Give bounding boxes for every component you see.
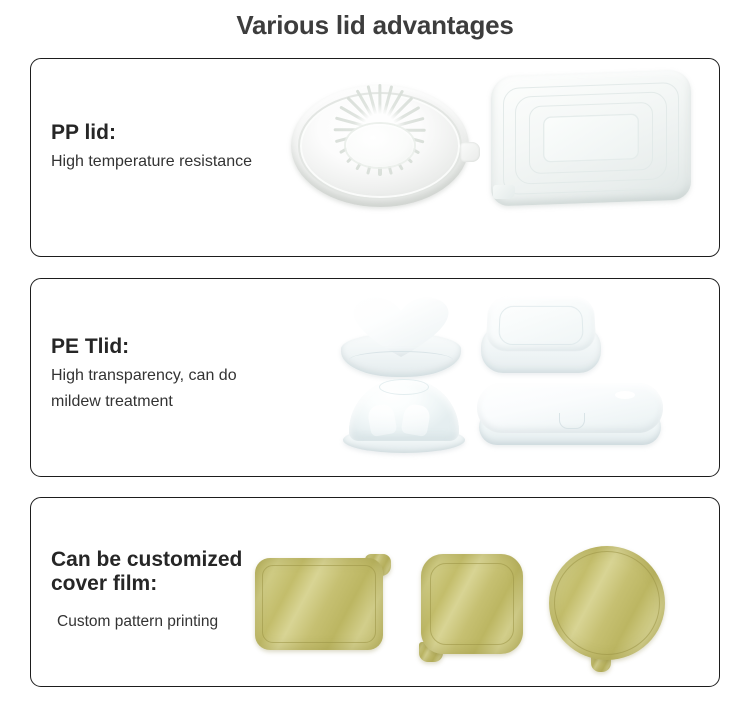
dome-lid-highlight-right (401, 403, 432, 437)
card-text-block-pe: PE Tlid: High transparency, can do milde… (51, 335, 237, 414)
advantage-card-pe-lid: PE Tlid: High transparency, can do milde… (30, 278, 720, 477)
advantage-card-cover-film: Can be customized cover film: Custom pat… (30, 497, 720, 687)
square-lid-inner-ridge (498, 306, 584, 345)
gold-square-inner-line (430, 563, 514, 645)
gold-rect-inner-line (262, 565, 376, 643)
card-description-pp: High temperature resistance (51, 149, 252, 174)
round-pp-lid-image (291, 85, 469, 207)
product-images-cover-film (249, 498, 719, 686)
rect-lid-corner-tab (493, 185, 515, 199)
rectangular-gold-foil-cover-image (255, 554, 393, 652)
oval-pe-lid-image (477, 383, 663, 449)
square-gold-foil-cover-image (417, 554, 527, 664)
card-heading-pe: PE Tlid: (51, 335, 237, 359)
heart-lid-lip (349, 351, 453, 369)
card-description-cover-film: Custom pattern printing (51, 610, 242, 634)
card-heading-pp: PP lid: (51, 121, 252, 145)
oval-lid-highlight (615, 391, 635, 399)
product-images-pp (279, 59, 719, 256)
page-title: Various lid advantages (0, 10, 750, 41)
oval-lid-notch (559, 413, 585, 429)
square-pe-lid-image (481, 295, 601, 381)
product-images-pe (339, 279, 719, 476)
card-text-block-pp: PP lid: High temperature resistance (51, 121, 252, 175)
round-lid-center-hub (346, 124, 414, 167)
rectangular-pp-lid-image (491, 73, 691, 203)
card-text-block-cover-film: Can be customized cover film: Custom pat… (51, 548, 242, 634)
dome-lid-top-ring (379, 379, 429, 395)
advantage-card-pp-lid: PP lid: High temperature resistance (30, 58, 720, 257)
gold-round-inner-line (554, 551, 660, 655)
heart-pe-lid-image (341, 295, 465, 383)
round-lid-pull-tab (460, 142, 480, 162)
card-description-pe: High transparency, can do mildew treatme… (51, 363, 237, 414)
card-heading-cover-film: Can be customized cover film: (51, 548, 242, 597)
dome-pe-lid-image (343, 379, 465, 453)
infographic-page: Various lid advantages PP lid: High temp… (0, 0, 750, 712)
round-gold-foil-cover-image (549, 546, 669, 668)
rect-lid-center-panel (543, 113, 639, 162)
